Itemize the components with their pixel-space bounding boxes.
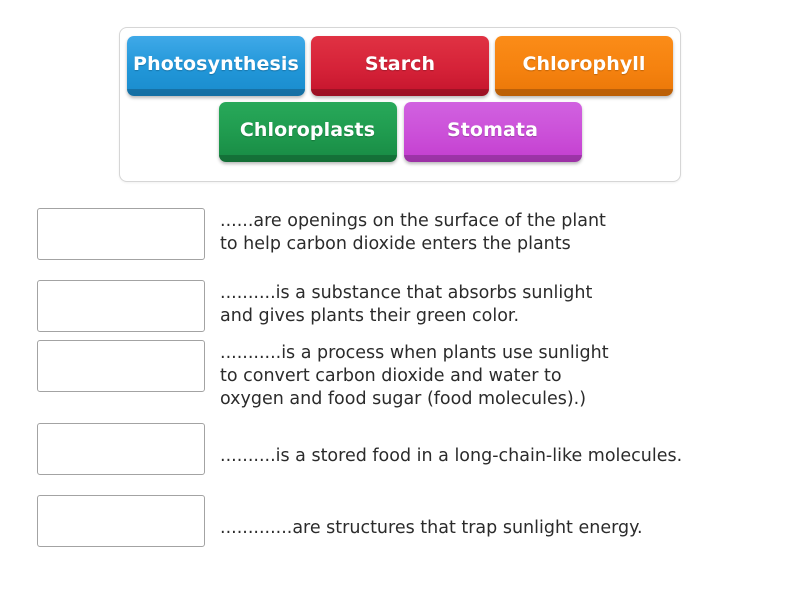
draggable-tile-stomata[interactable]: Stomata bbox=[404, 102, 582, 162]
tile-bank: Photosynthesis Starch Chlorophyll Chloro… bbox=[119, 27, 681, 182]
tile-label: Chloroplasts bbox=[240, 119, 375, 145]
tile-label: Stomata bbox=[447, 119, 538, 145]
answer-drop-zone-4[interactable] bbox=[37, 423, 205, 475]
question-text-5: .............are structures that trap su… bbox=[220, 517, 800, 540]
answer-drop-zone-1[interactable] bbox=[37, 208, 205, 260]
question-text-1: ......are openings on the surface of the… bbox=[220, 210, 800, 256]
question-row: ...........is a process when plants use … bbox=[0, 340, 800, 411]
tile-bank-row-1: Photosynthesis Starch Chlorophyll bbox=[120, 28, 680, 96]
question-row: ..........is a stored food in a long-cha… bbox=[0, 423, 800, 475]
answer-drop-zone-5[interactable] bbox=[37, 495, 205, 547]
question-row: ..........is a substance that absorbs su… bbox=[0, 280, 800, 332]
answer-drop-zone-3[interactable] bbox=[37, 340, 205, 392]
match-up-activity: Photosynthesis Starch Chlorophyll Chloro… bbox=[0, 0, 800, 600]
draggable-tile-photosynthesis[interactable]: Photosynthesis bbox=[127, 36, 305, 96]
draggable-tile-starch[interactable]: Starch bbox=[311, 36, 489, 96]
tile-label: Chlorophyll bbox=[522, 53, 645, 79]
draggable-tile-chlorophyll[interactable]: Chlorophyll bbox=[495, 36, 673, 96]
tile-label: Starch bbox=[365, 53, 435, 79]
question-text-4: ..........is a stored food in a long-cha… bbox=[220, 445, 800, 468]
tile-label: Photosynthesis bbox=[133, 53, 299, 79]
question-text-2: ..........is a substance that absorbs su… bbox=[220, 282, 800, 328]
question-row: ......are openings on the surface of the… bbox=[0, 208, 800, 260]
tile-bank-row-2: Chloroplasts Stomata bbox=[120, 96, 680, 162]
question-list: ......are openings on the surface of the… bbox=[0, 208, 800, 565]
question-text-3: ...........is a process when plants use … bbox=[220, 342, 800, 411]
answer-drop-zone-2[interactable] bbox=[37, 280, 205, 332]
draggable-tile-chloroplasts[interactable]: Chloroplasts bbox=[219, 102, 397, 162]
question-row: .............are structures that trap su… bbox=[0, 495, 800, 547]
